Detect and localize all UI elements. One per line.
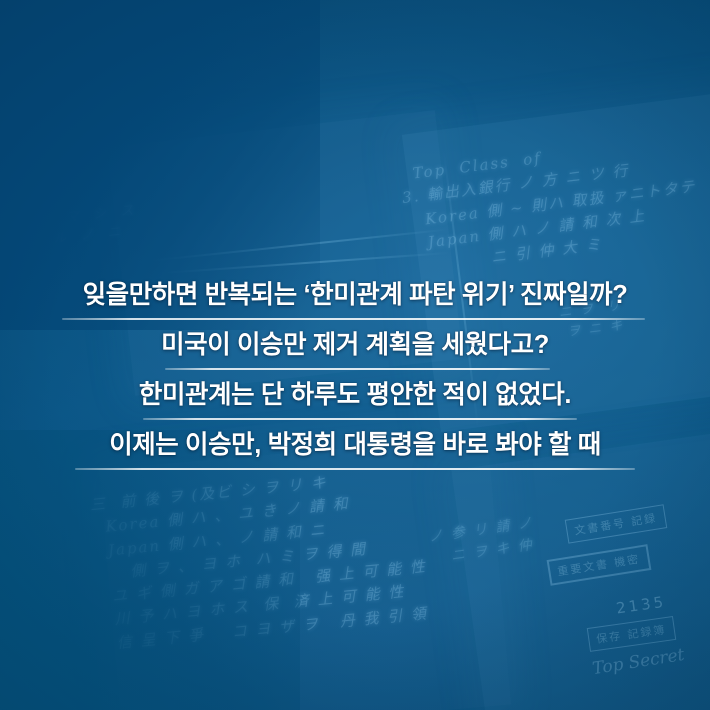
poster-card: Top Class of 3. 輸出入銀行 ノ 方 ニ ツ 行 Korea 側 … <box>0 0 710 710</box>
headline-divider-4 <box>75 468 635 470</box>
headline-divider-2 <box>165 368 550 370</box>
headline-row-1: 잊을만하면 반복되는 ‘한미관계 파탄 위기’ 진짜일까? <box>0 272 710 322</box>
document-stamp-3: 保存 記録簿 <box>587 616 676 652</box>
handwriting-bottom-left: 三 前 後 ヲ (及ビ シ ヲ リ キ Korea 側 ハ 、 ユ き ノ 請 … <box>89 463 432 657</box>
headline-row-4: 이제는 이승만, 박정희 대통령을 바로 봐야 할 때 <box>0 422 710 472</box>
handwriting-top-left: 力 マ シ ス ル ノ ニ <box>38 201 138 251</box>
handwriting-top-right: Top Class of 3. 輸出入銀行 ノ 方 ニ ツ 行 Korea 側 … <box>398 129 704 280</box>
document-number: 2135 <box>615 593 667 618</box>
headline-line-4: 이제는 이승만, 박정희 대통령을 바로 봐야 할 때 <box>0 422 710 468</box>
headline-divider-1 <box>62 318 645 320</box>
handwriting-bottom-right: ノ 参 リ 請 ノ ニ ヲ キ 仲 <box>427 513 538 571</box>
headline-divider-3 <box>143 418 577 420</box>
paper-edge-line-1 <box>151 228 450 261</box>
headline-line-3: 한미관계는 단 하루도 평안한 적이 없었다. <box>0 372 710 418</box>
document-stamp-2: 重要文書 機密 <box>547 544 651 586</box>
document-stamp-1: 文書番号 記録 <box>565 504 667 543</box>
headline-line-2: 미국이 이승만 제거 계획을 세웠다고? <box>0 322 710 368</box>
headline-block: 잊을만하면 반복되는 ‘한미관계 파탄 위기’ 진짜일까? 미국이 이승만 제거… <box>0 272 710 472</box>
headline-row-3: 한미관계는 단 하루도 평안한 적이 없었다. <box>0 372 710 422</box>
headline-line-1: 잊을만하면 반복되는 ‘한미관계 파탄 위기’ 진짜일까? <box>0 272 710 318</box>
document-signature: Top Secret <box>591 645 686 679</box>
paper-edge-line-2 <box>160 252 449 274</box>
headline-row-2: 미국이 이승만 제거 계획을 세웠다고? <box>0 322 710 372</box>
